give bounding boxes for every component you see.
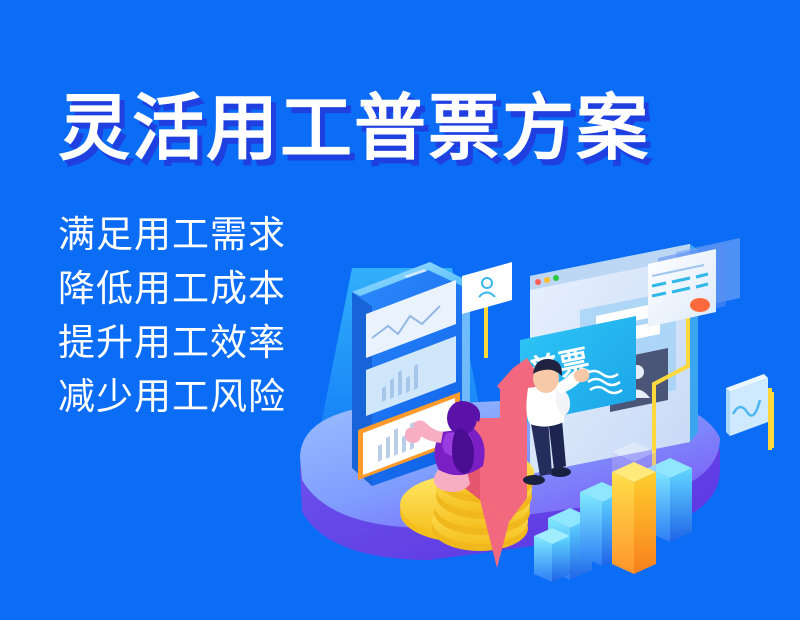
benefit-item-4: 减少用工风险 <box>58 378 286 415</box>
benefit-item-3: 提升用工效率 <box>58 324 286 361</box>
line-chart-card <box>726 374 772 450</box>
page-title: 灵活用工普票方案 <box>58 93 650 165</box>
benefit-item-2: 降低用工成本 <box>58 270 286 307</box>
promo-banner: 普票 <box>0 0 800 620</box>
accent-block <box>534 528 570 582</box>
benefit-item-1: 满足用工需求 <box>58 216 286 253</box>
benefit-list: 满足用工需求 降低用工成本 提升用工效率 减少用工风险 <box>58 216 286 415</box>
bar-3-highlight <box>612 462 656 574</box>
